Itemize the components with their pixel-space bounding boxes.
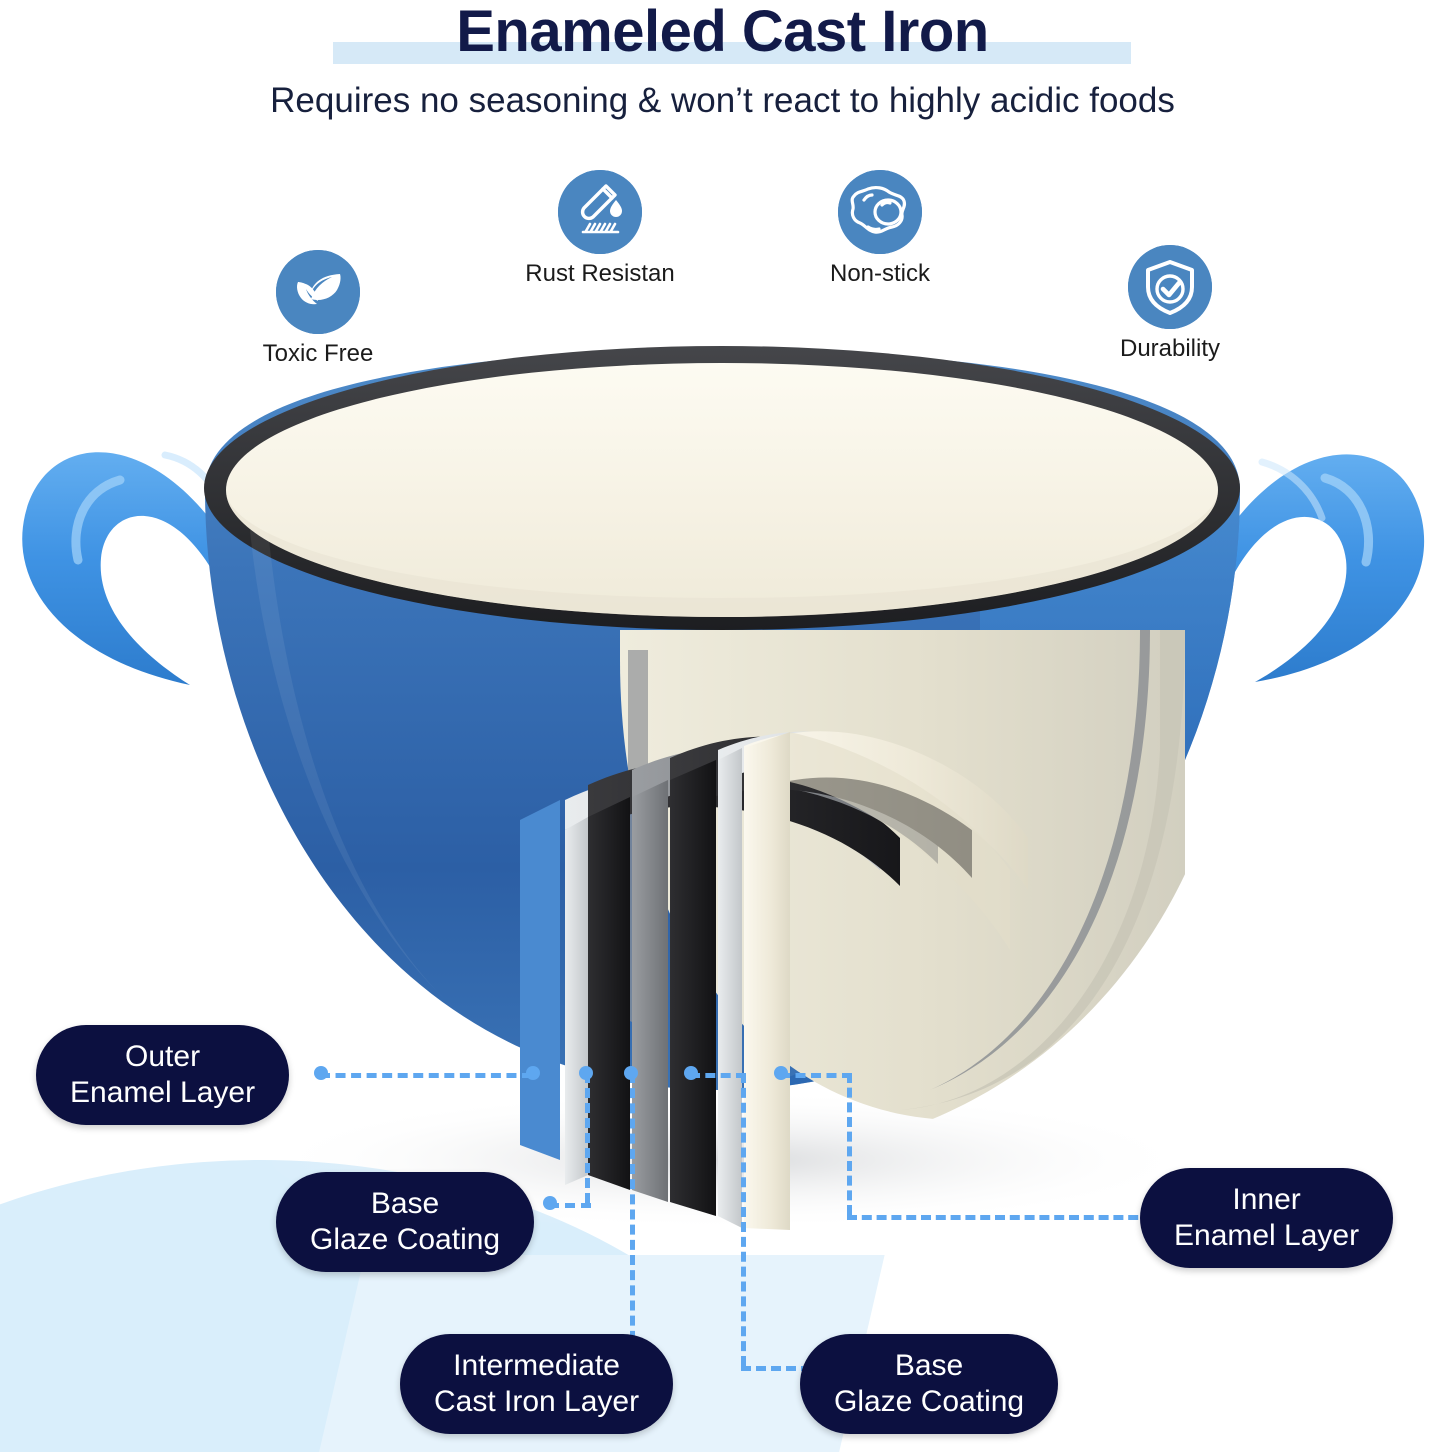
callout-line-2: Glaze Coating [310,1222,500,1258]
infographic-canvas: Enameled Cast Iron Requires no seasoning… [0,0,1445,1452]
page-subtitle: Requires no seasoning & won’t react to h… [0,80,1445,122]
handle-left [22,452,232,685]
connector-dot [526,1066,540,1080]
callout-intermediate-cast-iron-layer[interactable]: Intermediate Cast Iron Layer [400,1334,673,1434]
feature-rust-resistan: Rust Resistan [500,170,700,288]
connector-inner-enamel-leg [847,1215,1153,1220]
callout-line-1: Inner [1174,1182,1359,1218]
connector-outer-enamel [320,1073,532,1078]
connector-base-glaze-1 [585,1073,590,1203]
callout-line-2: Glaze Coating [834,1384,1024,1420]
test-tube-droplet-icon [558,170,642,254]
callout-line-1: Intermediate [434,1348,639,1384]
connector-inner-enamel-mid [847,1073,852,1215]
connector-intermediate [630,1073,635,1356]
callout-base-glaze-coating-1[interactable]: Base Glaze Coating [276,1172,534,1272]
feature-non-stick: Non-stick [780,170,980,288]
layer-inner-enamel-face [744,732,790,1230]
callout-inner-enamel-layer[interactable]: Inner Enamel Layer [1140,1168,1393,1268]
shield-check-icon [1128,245,1212,329]
connector-base-glaze-2-leg [741,1366,811,1371]
callout-line-1: Outer [70,1039,255,1075]
callout-base-glaze-coating-2[interactable]: Base Glaze Coating [800,1334,1058,1434]
layer-glaze-2-face [718,748,742,1228]
callout-line-1: Base [310,1186,500,1222]
layer-cast-iron-2-face [670,760,716,1216]
connector-base-glaze-2-mid [741,1073,746,1366]
layer-gray-face [632,780,668,1202]
connector-inner-enamel-top [780,1073,852,1078]
callout-line-1: Base [834,1348,1024,1384]
callout-line-2: Enamel Layer [1174,1218,1359,1254]
header: Enameled Cast Iron [0,2,1445,62]
handle-right [1225,454,1424,682]
leaves-icon [276,250,360,334]
fried-egg-icon [838,170,922,254]
feature-label: Rust Resistan [500,260,700,288]
callout-line-2: Cast Iron Layer [434,1384,639,1420]
page-title: Enameled Cast Iron [0,2,1445,62]
layer-cast-iron-1-face [588,797,630,1190]
callout-line-2: Enamel Layer [70,1075,255,1111]
connector-dot [314,1066,328,1080]
connector-base-glaze-2-top [690,1073,746,1078]
feature-label: Non-stick [780,260,980,288]
callout-outer-enamel-layer[interactable]: Outer Enamel Layer [36,1025,289,1125]
connector-dot [543,1196,557,1210]
